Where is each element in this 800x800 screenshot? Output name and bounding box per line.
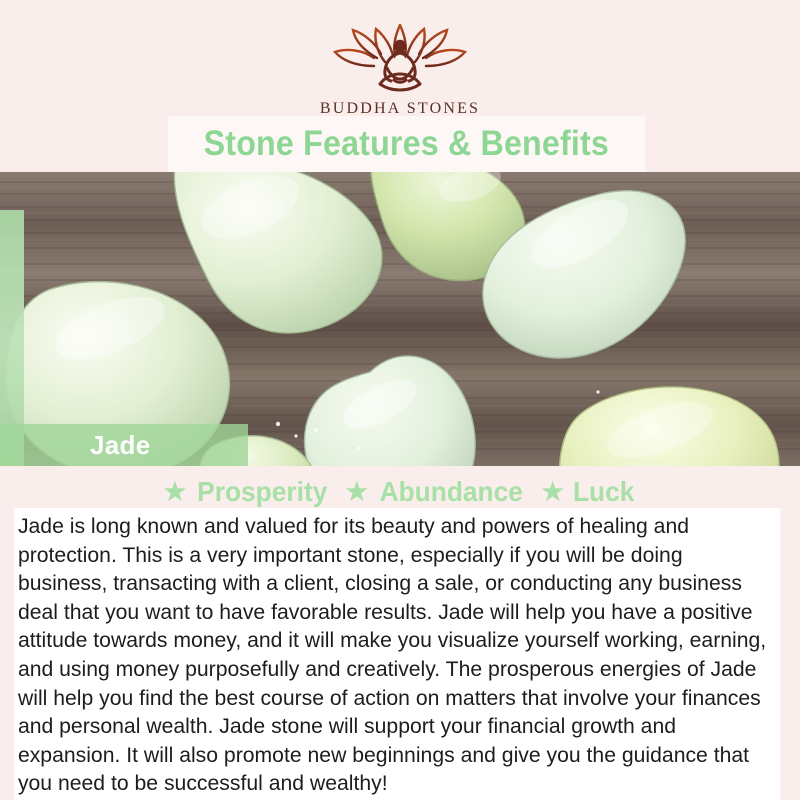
- stone-name-badge: Jade: [0, 424, 248, 466]
- stone-description: Jade is long known and valued for its be…: [14, 508, 780, 800]
- title-panel: Stone Features & Benefits: [168, 116, 645, 172]
- star-icon: ★: [542, 480, 564, 505]
- stone-photo: [0, 172, 800, 466]
- benefits-row: ★ Prosperity ★ Abundance ★ Luck: [0, 476, 800, 508]
- page-title: Stone Features & Benefits: [204, 124, 609, 164]
- stone-info-card: BUDDHA STONES Stone Features & Benefits: [0, 0, 800, 800]
- card-content: ★ Prosperity ★ Abundance ★ Luck Jade is …: [0, 466, 800, 800]
- benefit-label: Luck: [573, 476, 634, 508]
- stone-name: Jade: [90, 430, 150, 461]
- benefit-label: Prosperity: [197, 476, 327, 508]
- star-icon: ★: [164, 480, 186, 505]
- benefit-label: Abundance: [380, 476, 523, 508]
- star-icon: ★: [346, 480, 368, 505]
- benefit-item-abundance: ★ Abundance: [346, 476, 528, 508]
- benefit-item-luck: ★ Luck: [542, 476, 637, 508]
- lotus-meditation-icon: [325, 22, 475, 96]
- stone-photo-image: [0, 172, 800, 466]
- benefit-item-prosperity: ★ Prosperity: [164, 476, 332, 508]
- brand-logo: BUDDHA STONES: [0, 22, 800, 118]
